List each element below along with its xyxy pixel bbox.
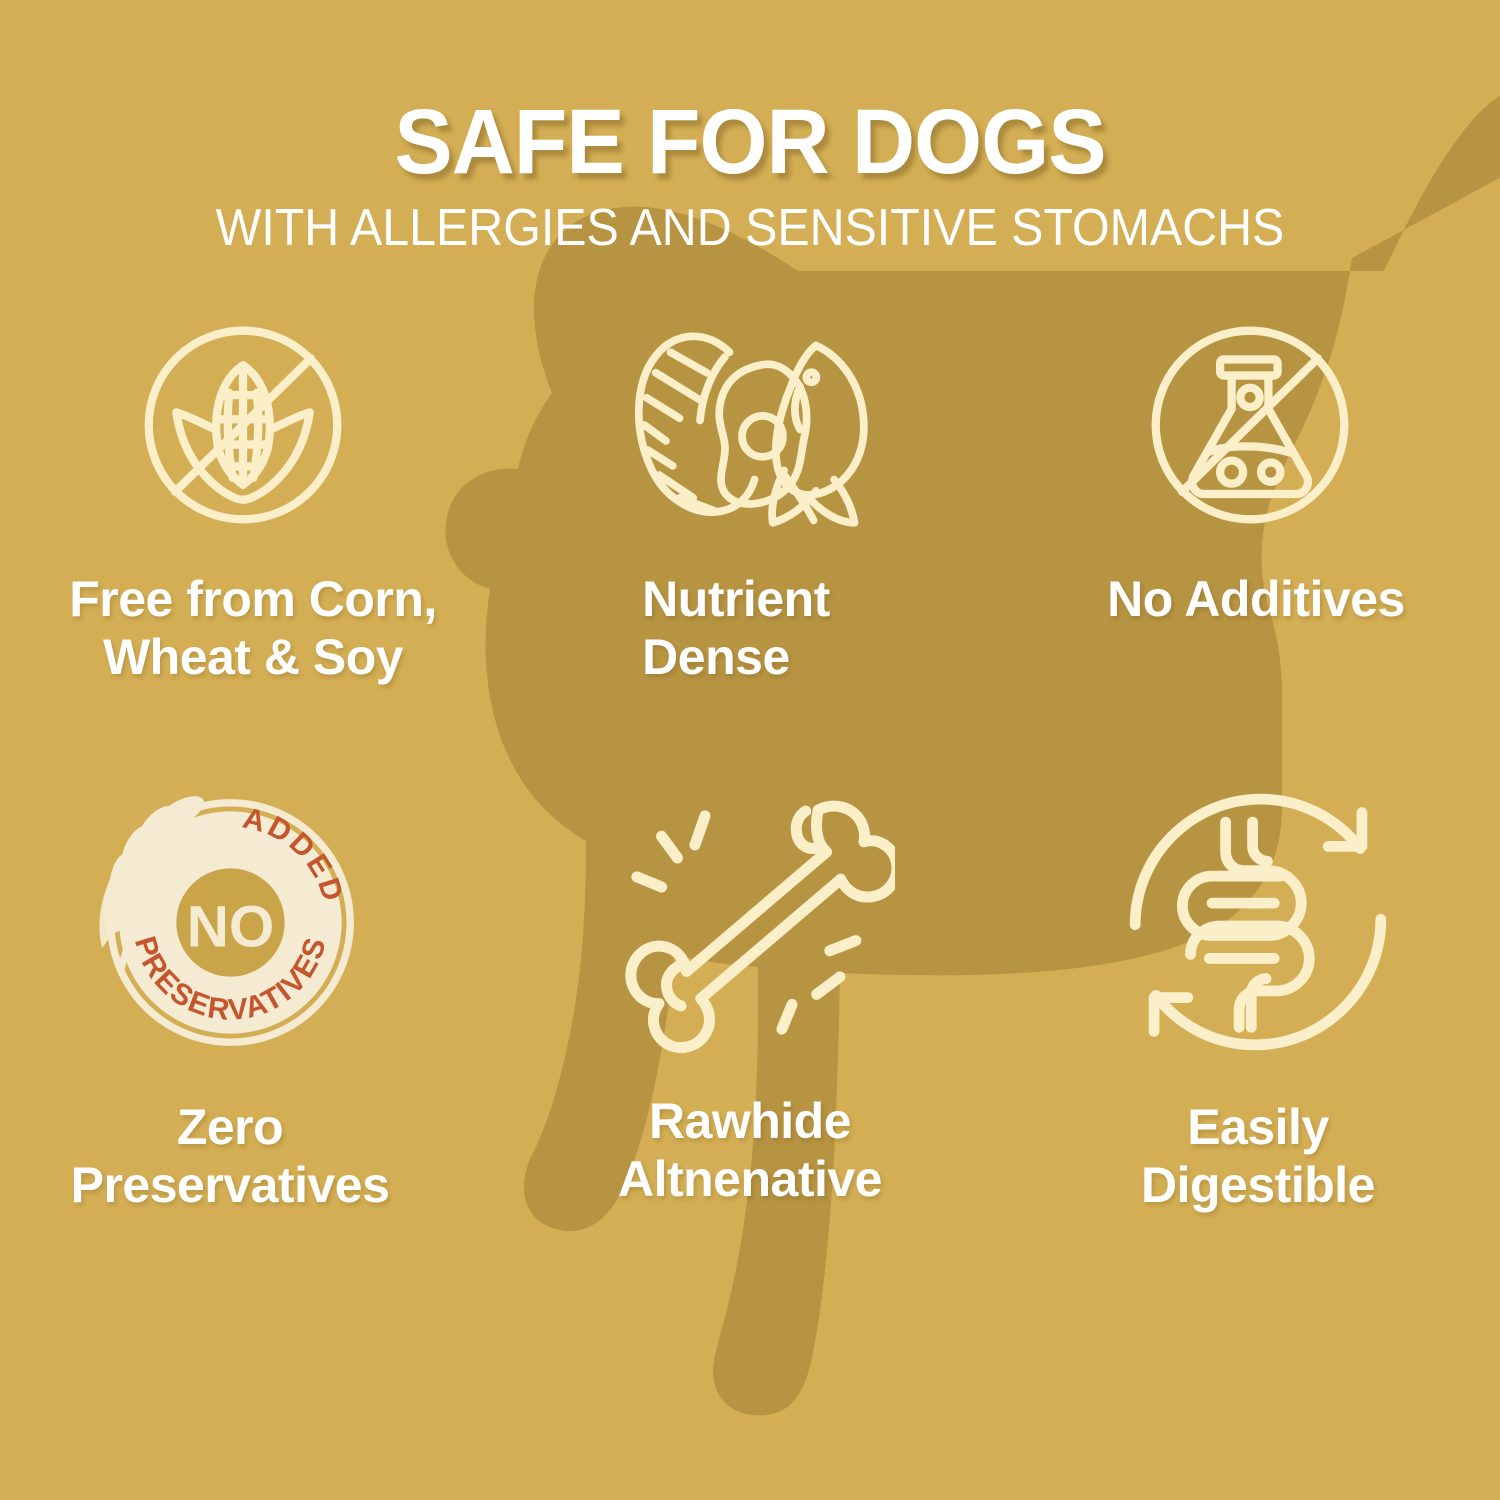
no-flask-icon — [1135, 310, 1365, 540]
no-added-preservatives-badge-icon: NO ADDED PRESERVATIVES — [88, 780, 373, 1065]
badge-center-text: NO — [186, 894, 274, 959]
infographic-root: SAFE FOR DOGS WITH ALLERGIES AND SENSITI… — [0, 0, 1500, 1500]
icon-container — [1135, 300, 1365, 550]
feature-item-rawhide: Rawhide Altnenative — [500, 766, 1000, 1208]
feature-item-digestible: Easily Digestible — [1008, 772, 1500, 1214]
feature-item-zero-preservatives: NO ADDED PRESERVATIVES Zero Preservative… — [0, 772, 480, 1214]
page-subtitle: WITH ALLERGIES AND SENSITIVE STOMACHS — [53, 202, 1448, 254]
icon-container — [625, 300, 875, 550]
feature-label-corn: Free from Corn, Wheat & Soy — [59, 570, 447, 686]
feature-grid: Free from Corn, Wheat & Soy — [0, 300, 1500, 1440]
feature-label-zero-preservatives: Zero Preservatives — [61, 1098, 400, 1214]
header: SAFE FOR DOGS WITH ALLERGIES AND SENSITI… — [0, 96, 1500, 254]
feature-label-additives: No Additives — [1097, 570, 1415, 628]
page-title: SAFE FOR DOGS — [38, 96, 1463, 188]
bone-icon — [605, 771, 895, 1061]
feature-label-rawhide: Rawhide Altnenative — [608, 1092, 892, 1208]
intestine-cycle-icon — [1123, 787, 1393, 1057]
feature-label-nutrient: Nutrient Dense — [632, 570, 840, 686]
icon-container — [605, 766, 895, 1066]
feature-item-additives: No Additives — [1000, 300, 1500, 628]
meat-egg-fish-icon — [625, 310, 875, 540]
feature-item-nutrient: Nutrient Dense — [500, 300, 1000, 686]
icon-container — [1123, 772, 1393, 1072]
icon-container — [128, 300, 358, 550]
icon-container: NO ADDED PRESERVATIVES — [88, 772, 373, 1072]
feature-label-digestible: Easily Digestible — [1131, 1098, 1385, 1214]
feature-item-corn: Free from Corn, Wheat & Soy — [0, 300, 493, 686]
no-corn-icon — [128, 310, 358, 540]
